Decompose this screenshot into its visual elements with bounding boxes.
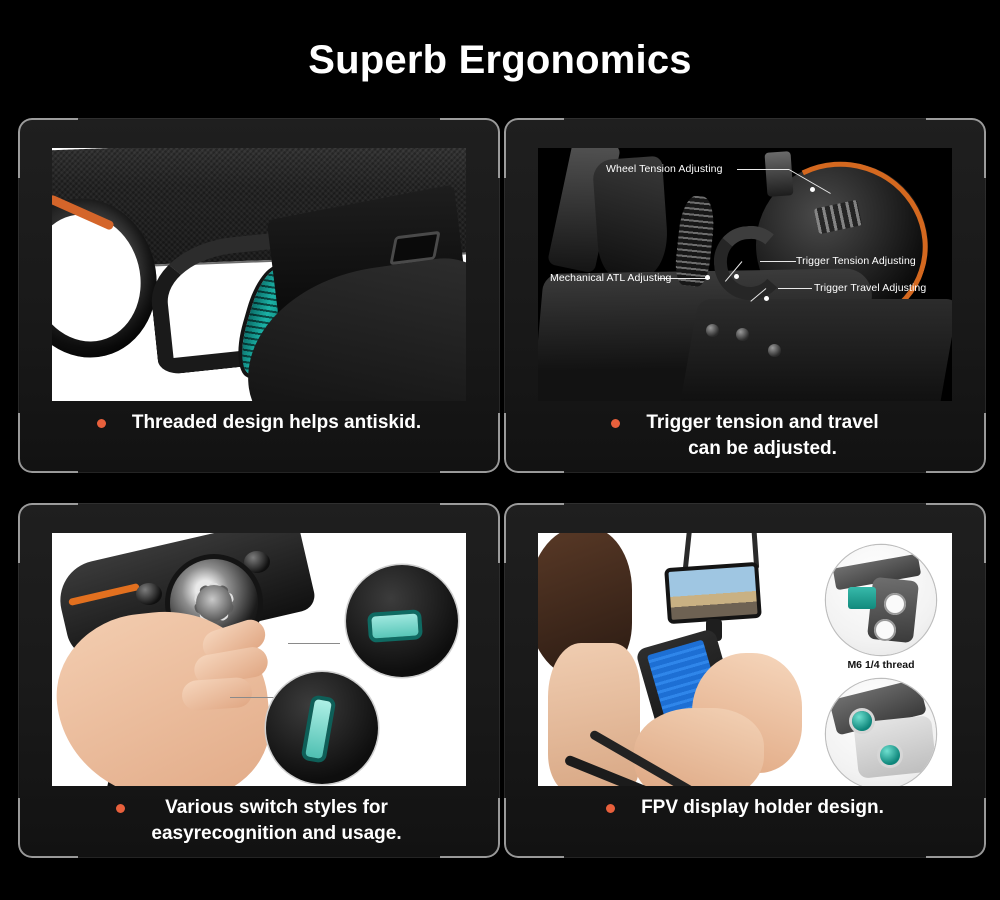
- bullet-dot-icon: [97, 419, 106, 428]
- rotary-knob-right: [244, 551, 270, 573]
- detail-label-m6: M6 1/4 thread: [808, 659, 952, 671]
- annotation-mechanical-atl: Mechanical ATL Adjusting: [550, 272, 671, 284]
- teal-screw-upper: [852, 711, 872, 731]
- caption-line-1: Threaded design helps antiskid.: [132, 412, 421, 433]
- page-title: Superb Ergonomics: [0, 38, 1000, 83]
- trigger-tension-knob: [736, 328, 749, 341]
- leader-dot-wheel-tension: [810, 187, 815, 192]
- caption-line-2: easyrecognition and usage.: [151, 821, 401, 847]
- card-caption: Trigger tension and travel can be adjust…: [504, 410, 986, 462]
- bullet-dot-icon: [611, 419, 620, 428]
- teal-slider-switch: [305, 699, 332, 759]
- teal-clip: [848, 587, 876, 609]
- wheel-spoke: [193, 592, 234, 614]
- caption-text: Threaded design helps antiskid.: [132, 410, 421, 436]
- wheel-tension-tab: [764, 151, 793, 197]
- feature-card-threaded-trigger[interactable]: Threaded design helps antiskid.: [18, 118, 500, 473]
- wheel-spoke: [209, 583, 219, 623]
- photo-fpv-holder: M6 1/4 thread M3: [538, 533, 952, 786]
- annotation-trigger-tension: Trigger Tension Adjusting: [796, 255, 916, 267]
- transmitter-base-secondary: [677, 299, 952, 401]
- wheel-spoke: [198, 584, 230, 622]
- annotation-trigger-travel: Trigger Travel Adjusting: [814, 282, 926, 294]
- photo-right-details: M6 1/4 thread M3: [806, 533, 952, 786]
- detail-circle-m6-thread: [826, 545, 936, 655]
- leader-dot-atl: [705, 275, 710, 280]
- feature-card-fpv-holder[interactable]: M6 1/4 thread M3 FPV display holder desi…: [504, 503, 986, 858]
- feature-card-switch-styles[interactable]: Various switch styles for easyrecognitio…: [18, 503, 500, 858]
- caption-line-2: can be adjusted.: [646, 436, 878, 462]
- leader-dot-trigger-tension: [734, 274, 739, 279]
- card-caption: Threaded design helps antiskid.: [18, 410, 500, 436]
- magnifier-switch-rocker: [346, 565, 458, 677]
- teal-rocker-switch: [371, 613, 418, 638]
- annotation-wheel-tension: Wheel Tension Adjusting: [606, 163, 723, 175]
- leader-dot-trigger-travel: [764, 296, 769, 301]
- photo-left-scene: [538, 533, 806, 786]
- teal-screw-lower: [880, 745, 900, 765]
- caption-line-1: FPV display holder design.: [641, 797, 884, 818]
- caption-text: FPV display holder design.: [641, 795, 884, 821]
- caption-text: Trigger tension and travel can be adjust…: [646, 410, 878, 462]
- caption-line-1: Various switch styles for: [165, 797, 388, 818]
- thread-hole-upper: [884, 593, 906, 615]
- leader-line-trigger-tension: [760, 261, 796, 262]
- photo-adjusters-annotated: Wheel Tension Adjusting Trigger Tension …: [538, 148, 952, 401]
- photo-hand-transmitter-switches: [52, 533, 466, 786]
- product-feature-page: Superb Ergonomics Threaded: [0, 0, 1000, 900]
- rotary-knob-left: [136, 583, 162, 605]
- fpv-screen: [668, 566, 757, 620]
- finger: [181, 677, 253, 712]
- leader-line-trigger-travel: [778, 288, 812, 289]
- thread-hole-lower: [874, 619, 896, 641]
- caption-text: Various switch styles for easyrecognitio…: [151, 795, 401, 847]
- bullet-dot-icon: [116, 804, 125, 813]
- detail-circle-m3: [826, 679, 936, 786]
- wheel-spoke: [198, 584, 230, 622]
- feature-card-grid: Threaded design helps antiskid.: [18, 118, 986, 886]
- magnifier-switch-slider: [266, 672, 378, 784]
- trigger-travel-knob: [768, 344, 781, 357]
- card-caption: FPV display holder design.: [504, 795, 986, 821]
- feature-card-trigger-adjust[interactable]: Wheel Tension Adjusting Trigger Tension …: [504, 118, 986, 473]
- photo-trigger-closeup: [52, 148, 466, 401]
- callout-line-top: [288, 643, 340, 644]
- fpv-monitor: [664, 562, 762, 624]
- leader-line-wheel-tension: [737, 169, 789, 170]
- caption-line-1: Trigger tension and travel: [646, 412, 878, 433]
- card-caption: Various switch styles for easyrecognitio…: [18, 795, 500, 847]
- bullet-dot-icon: [606, 804, 615, 813]
- mechanical-atl-knob: [706, 324, 719, 337]
- callout-line-bottom: [230, 697, 274, 698]
- wheel-spoke: [193, 592, 234, 614]
